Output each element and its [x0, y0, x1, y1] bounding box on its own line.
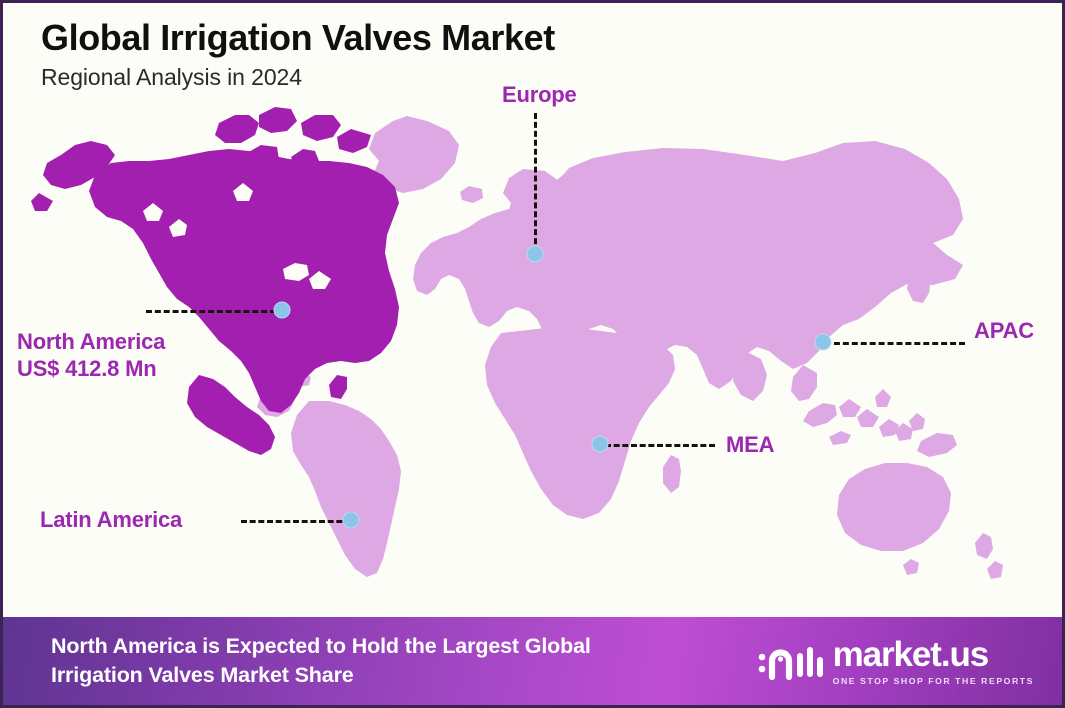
logo-tagline: ONE STOP SHOP FOR THE REPORTS [833, 676, 1034, 686]
leader-line-apac [825, 342, 965, 345]
footer-banner: North America is Expected to Hold the La… [3, 617, 1065, 705]
region-label-north-america: North America US$ 412.8 Mn [17, 329, 165, 383]
leader-line-north-america [146, 310, 276, 313]
region-label-latin-america: Latin America [40, 507, 182, 534]
map-marker-mea[interactable] [592, 436, 609, 453]
market-us-logo[interactable]: market.us ONE STOP SHOP FOR THE REPORTS [757, 637, 1042, 686]
market-us-logo-mark [757, 639, 823, 683]
market-us-logo-words: market.us ONE STOP SHOP FOR THE REPORTS [833, 637, 1034, 686]
region-name-north-america: North America [17, 329, 165, 354]
region-name-apac: APAC [974, 318, 1034, 343]
map-marker-europe[interactable] [527, 246, 544, 263]
map-highlight-north-america [31, 107, 399, 455]
leader-line-latin-america [241, 520, 351, 523]
region-label-apac: APAC [974, 318, 1034, 345]
logo-name: market.us [833, 637, 988, 672]
footer-tagline-line2: Irrigation Valves Market Share [51, 661, 591, 690]
map-marker-latin-america[interactable] [343, 512, 360, 529]
region-value-north-america: US$ 412.8 Mn [17, 356, 165, 383]
infographic-card: Global Irrigation Valves Market Regional… [0, 0, 1065, 708]
header: Global Irrigation Valves Market Regional… [41, 19, 555, 91]
region-name-latin-america: Latin America [40, 507, 182, 532]
footer-tagline: North America is Expected to Hold the La… [51, 632, 591, 689]
leader-line-mea [605, 444, 715, 447]
leader-line-europe [534, 113, 537, 253]
map-marker-north-america[interactable] [274, 302, 291, 319]
region-name-mea: MEA [726, 432, 774, 457]
page-title: Global Irrigation Valves Market [41, 19, 555, 58]
region-label-mea: MEA [726, 432, 774, 459]
page-subtitle: Regional Analysis in 2024 [41, 64, 555, 91]
footer-tagline-line1: North America is Expected to Hold the La… [51, 632, 591, 661]
map-marker-apac[interactable] [815, 334, 832, 351]
